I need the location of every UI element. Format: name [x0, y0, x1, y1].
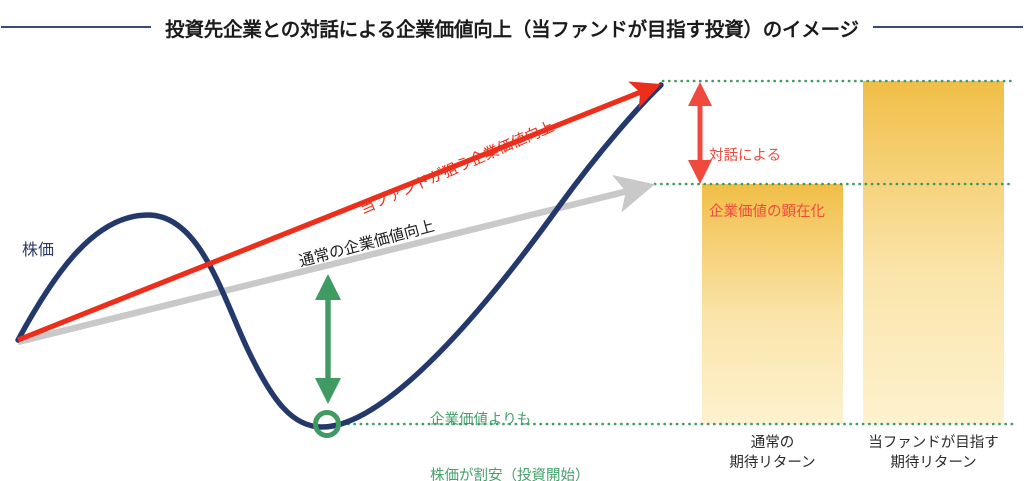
stock-price-curve [18, 85, 661, 427]
diagram-canvas: 投資先企業との対話による企業価値向上（当ファンドが目指す投資）のイメージ [0, 0, 1024, 481]
undervaluation-gap-arrow [315, 274, 341, 404]
fund-growth-arrow [18, 86, 656, 340]
value-realization-gap-arrow [688, 82, 712, 184]
chart-graphics [0, 0, 1024, 481]
bar-normal-return [702, 184, 843, 424]
bar-fund-return [863, 81, 1004, 424]
